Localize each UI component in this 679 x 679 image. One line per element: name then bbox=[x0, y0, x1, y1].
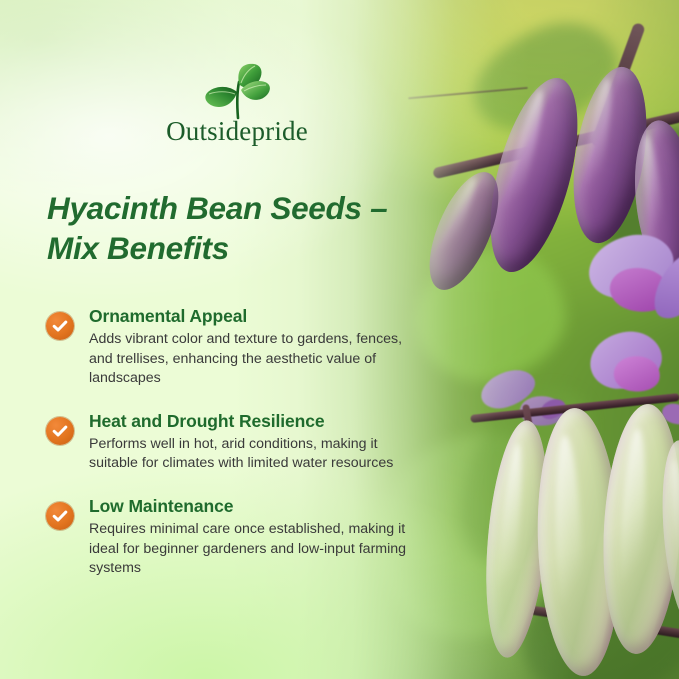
benefit-title: Ornamental Appeal bbox=[89, 306, 421, 327]
benefit-item: Heat and Drought Resilience Performs wel… bbox=[46, 411, 421, 474]
check-circle-icon bbox=[46, 417, 74, 445]
page-title: Hyacinth Bean Seeds – Mix Benefits bbox=[47, 188, 417, 269]
benefit-description: Requires minimal care once established, … bbox=[89, 520, 419, 579]
page-title-line2: Mix Benefits bbox=[47, 230, 229, 266]
brand-wordmark: Outsidepride bbox=[137, 116, 337, 147]
benefit-title: Low Maintenance bbox=[89, 496, 421, 517]
brand-logo[interactable]: Outsidepride bbox=[137, 62, 337, 148]
seedling-leaves-icon bbox=[192, 62, 278, 120]
benefit-item: Ornamental Appeal Adds vibrant color and… bbox=[46, 306, 421, 389]
page-title-line1: Hyacinth Bean Seeds – bbox=[47, 190, 387, 226]
benefit-description: Performs well in hot, arid conditions, m… bbox=[89, 435, 419, 474]
product-benefits-poster: Outsidepride Hyacinth Bean Seeds – Mix B… bbox=[0, 0, 679, 679]
benefit-title: Heat and Drought Resilience bbox=[89, 411, 421, 432]
benefit-description: Adds vibrant color and texture to garden… bbox=[89, 330, 419, 389]
benefit-item: Low Maintenance Requires minimal care on… bbox=[46, 496, 421, 579]
check-circle-icon bbox=[46, 312, 74, 340]
benefits-list: Ornamental Appeal Adds vibrant color and… bbox=[46, 306, 421, 601]
check-circle-icon bbox=[46, 502, 74, 530]
